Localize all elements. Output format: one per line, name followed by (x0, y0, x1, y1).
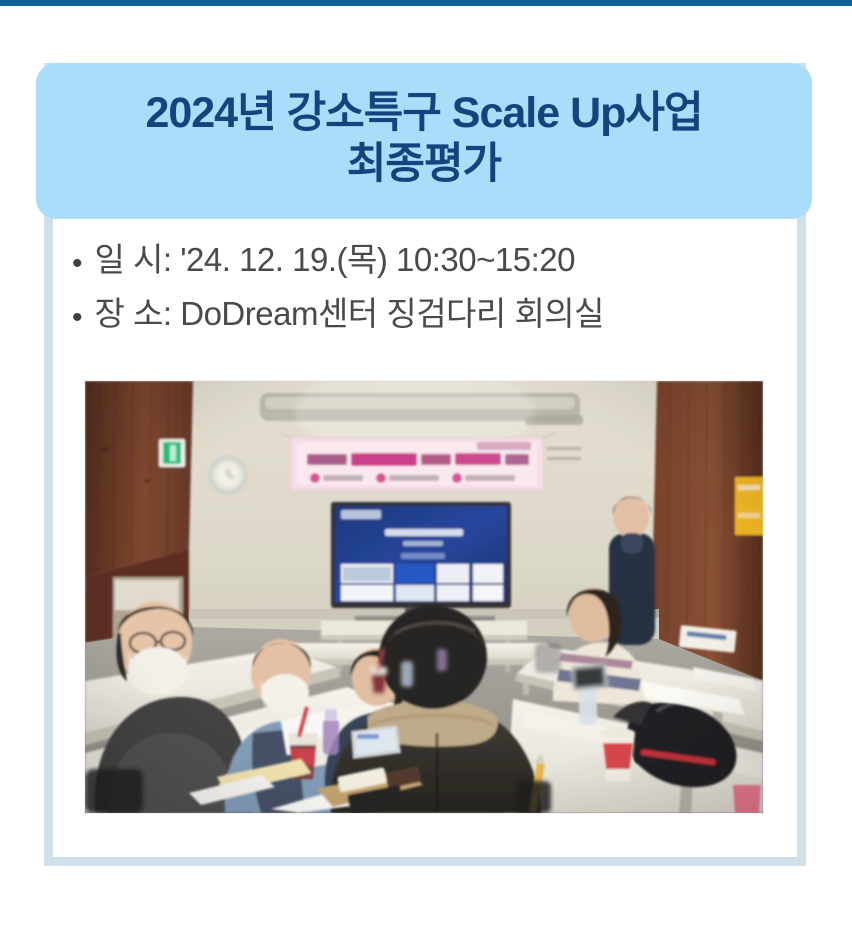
bullet-icon: • (72, 249, 83, 279)
event-datetime-text: 일 시: '24. 12. 19.(목) 10:30~15:20 (95, 238, 575, 282)
event-details-list: • 일 시: '24. 12. 19.(목) 10:30~15:20 • 장 소… (72, 238, 772, 346)
event-location-text: 장 소: DoDream센터 징검다리 회의실 (95, 292, 605, 336)
list-item: • 일 시: '24. 12. 19.(목) 10:30~15:20 (72, 238, 772, 282)
list-item: • 장 소: DoDream센터 징검다리 회의실 (72, 292, 772, 336)
title-banner: 2024년 강소특구 Scale Up사업 최종평가 (36, 63, 812, 219)
top-accent-bar (0, 0, 852, 6)
page-title-line-1: 2024년 강소특구 Scale Up사업 (145, 88, 702, 139)
event-photo (85, 381, 763, 813)
bullet-icon: • (72, 303, 83, 333)
page-title-line-2: 최종평가 (347, 139, 501, 190)
